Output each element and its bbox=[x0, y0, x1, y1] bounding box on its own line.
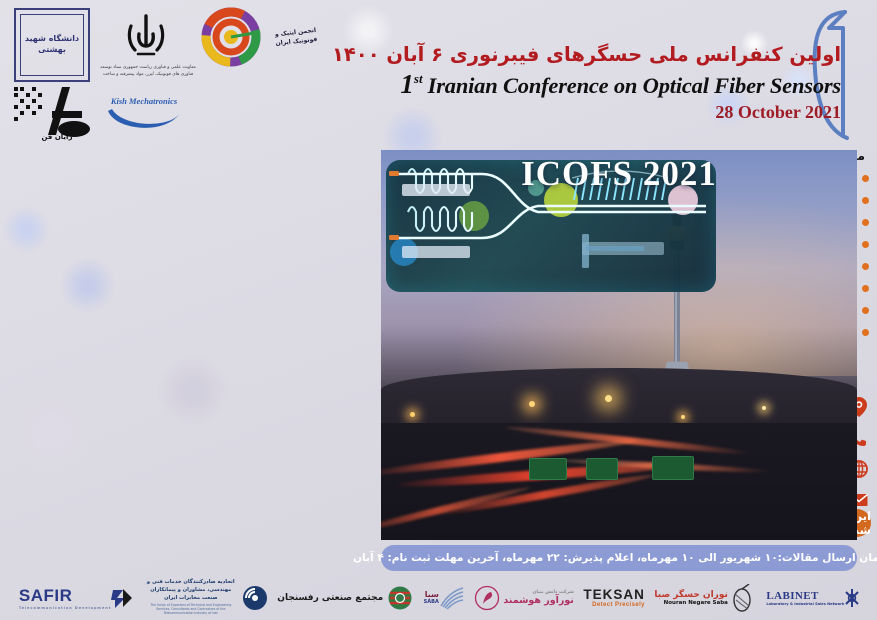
union-telecom-mark-icon bbox=[242, 585, 268, 611]
sponsor-saba: سبا SABA bbox=[424, 586, 465, 610]
sponsor-nouran-sub: Nouran Negare Saba bbox=[654, 600, 727, 606]
sponsor-union-telecom: اتحادیه صادرکنندگان خدمات فنی و مهندسی، … bbox=[143, 579, 268, 615]
sponsor-nouran-negare-saba: نوران حسگر صبا Nouran Negare Saba bbox=[654, 584, 753, 612]
safir-mark-icon bbox=[111, 586, 133, 610]
logo-shahid-beheshti-university: دانشگاه شهید بهشتی bbox=[14, 8, 90, 82]
bullet-icon bbox=[862, 307, 869, 314]
logo-sbu-label: دانشگاه شهید بهشتی bbox=[20, 14, 84, 76]
deadline-bar: زمان ارسال مقالات:۱۰ شهریور الی ۱۰ مهرما… bbox=[381, 545, 857, 571]
sponsor-teksan-sub: Detect Precisely bbox=[583, 602, 645, 608]
conference-title-fa: اولین کنفرانس ملی حسگرهای فیبرنوری ۶ آبا… bbox=[371, 44, 841, 66]
sponsor-safir: SAFIR Telecommunication Development bbox=[17, 586, 133, 610]
logo-kish-mechatronics-caption: Kish Mechatronics bbox=[104, 96, 184, 106]
nouran-mark-icon bbox=[730, 584, 754, 612]
saba-mark-icon bbox=[439, 586, 465, 610]
sponsor-teksan: TEKSAN Detect Precisely bbox=[583, 587, 645, 608]
sponsor-rafsanjan: مجتمع صنعتی رفسنجان bbox=[277, 585, 414, 611]
sponsor-nouran-label: نوران حسگر صبا bbox=[654, 590, 727, 600]
sponsor-rafsanjan-label: مجتمع صنعتی رفسنجان bbox=[277, 593, 383, 603]
highway bbox=[381, 423, 857, 540]
bullet-icon bbox=[862, 219, 869, 226]
sponsor-saba-sub: SABA bbox=[424, 599, 439, 605]
logo-opsi-icon bbox=[200, 6, 262, 68]
nooravar-mark-icon bbox=[474, 585, 500, 611]
logo-iran-emblem-icon bbox=[118, 12, 174, 62]
sponsor-strip: LABINET Laboratory & Industrial Sales Ne… bbox=[0, 575, 877, 620]
logo-rayan-fan-icon bbox=[12, 85, 100, 137]
bullet-icon bbox=[862, 197, 869, 204]
logo-iran-caption: معاونت علمی و فناوری ریاست جمهوری ستاد ت… bbox=[100, 64, 196, 78]
sponsor-safir-sub: Telecommunication Development bbox=[19, 606, 111, 610]
rafsanjan-mark-icon bbox=[386, 585, 414, 611]
sponsor-union-sub: The Union of Exporters of Technical and … bbox=[143, 603, 239, 616]
logo-anjoman-optic-photonic: انجمن اپتیک و فوتونیک ایران bbox=[263, 7, 328, 67]
bullet-icon bbox=[862, 263, 869, 270]
sponsor-nooravar-label: نورآور هوشمند bbox=[503, 595, 574, 606]
bullet-icon bbox=[862, 329, 869, 336]
sponsor-labinet-label: LABINET bbox=[766, 590, 844, 602]
sponsor-teksan-label: TEKSAN Detect Precisely bbox=[583, 587, 645, 608]
road-sign bbox=[652, 456, 694, 480]
road-sign bbox=[586, 458, 618, 480]
bullet-icon bbox=[862, 241, 869, 248]
bullet-icon bbox=[862, 175, 869, 182]
icofs-title: ICOFS 2021 bbox=[381, 154, 857, 194]
sponsor-labinet: LABINET Laboratory & Industrial Sales Ne… bbox=[763, 587, 860, 609]
sponsor-labinet-sub: Laboratory & Industrial Sales Network bbox=[766, 602, 844, 606]
hero-image: ICOFS 2021 bbox=[381, 150, 857, 540]
road-sign bbox=[529, 458, 567, 480]
top-logo-strip: دانشگاه شهید بهشتی معاونت علمی و فناوری … bbox=[0, 0, 360, 145]
conference-title-en-row: 1st Iranian Conference on Optical Fiber … bbox=[371, 69, 841, 100]
header-titles: اولین کنفرانس ملی حسگرهای فیبرنوری ۶ آبا… bbox=[371, 44, 841, 123]
sponsor-saba-label: سبا bbox=[424, 590, 439, 599]
logo-rayan-fan-caption: رایان فن bbox=[14, 133, 100, 141]
conference-date-en: 28 October 2021 bbox=[371, 102, 841, 123]
sponsor-nooravar-hooshmand: شرکت دانش بنیان نورآور هوشمند bbox=[474, 585, 574, 611]
deadline-text: زمان ارسال مقالات:۱۰ شهریور الی ۱۰ مهرما… bbox=[353, 552, 877, 564]
sponsor-union-label: اتحادیه صادرکنندگان خدمات فنی و مهندسی، … bbox=[143, 579, 239, 602]
labinet-mark-icon bbox=[844, 587, 860, 609]
ordinal-number: 1st bbox=[400, 69, 422, 99]
conference-poster: دانشگاه شهید بهشتی معاونت علمی و فناوری … bbox=[0, 0, 877, 620]
sponsor-safir-label: SAFIR bbox=[19, 586, 111, 606]
conference-title-en: Iranian Conference on Optical Fiber Sens… bbox=[428, 73, 841, 98]
bullet-icon bbox=[862, 285, 869, 292]
